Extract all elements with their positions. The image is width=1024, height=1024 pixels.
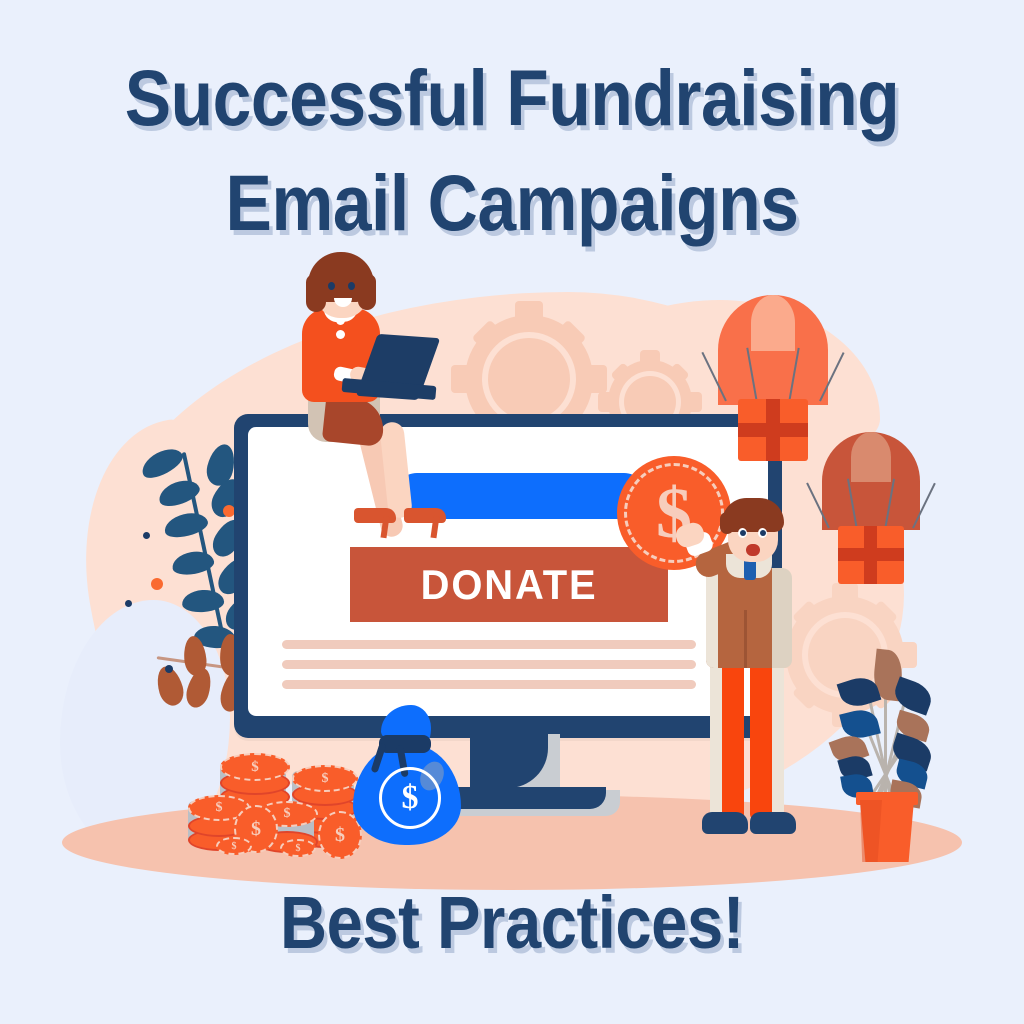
title-line-2: Email Campaigns — [61, 163, 962, 242]
parachute-gift-1 — [718, 295, 828, 465]
screen-text-line-3 — [282, 680, 696, 689]
coin-stack-group: $ $ $ $ $ $ $ $ — [188, 745, 358, 855]
footer-text: Best Practices! — [61, 886, 962, 960]
screen-text-line-2 — [282, 660, 696, 669]
gift-box-1 — [738, 399, 808, 461]
plant-leaf — [890, 676, 935, 715]
money-bag: $ — [353, 705, 463, 845]
poster-canvas: DONATE — [0, 0, 1024, 1024]
money-bag-knot — [379, 735, 431, 753]
man-holding-coin — [690, 490, 820, 850]
decor-dot-navy-1 — [143, 532, 150, 539]
man-shoe-right — [750, 812, 796, 834]
gift-box-2 — [838, 526, 904, 584]
decor-dot-orange-2 — [151, 578, 163, 590]
woman-shoe-left — [354, 508, 396, 523]
decor-dot-navy-2 — [125, 600, 132, 607]
decor-dot-navy-3 — [165, 665, 173, 673]
money-bag-dollar-sign: $ — [379, 767, 441, 829]
parachute-gift-2 — [822, 432, 920, 587]
woman-with-laptop — [272, 250, 492, 540]
potted-plant — [828, 632, 948, 847]
woman-shoe-right — [404, 508, 446, 523]
title-line-1: Successful Fundraising — [61, 58, 962, 137]
man-shoe-left — [702, 812, 748, 834]
screen-text-line-1 — [282, 640, 696, 649]
donate-button-label: DONATE — [421, 561, 598, 609]
